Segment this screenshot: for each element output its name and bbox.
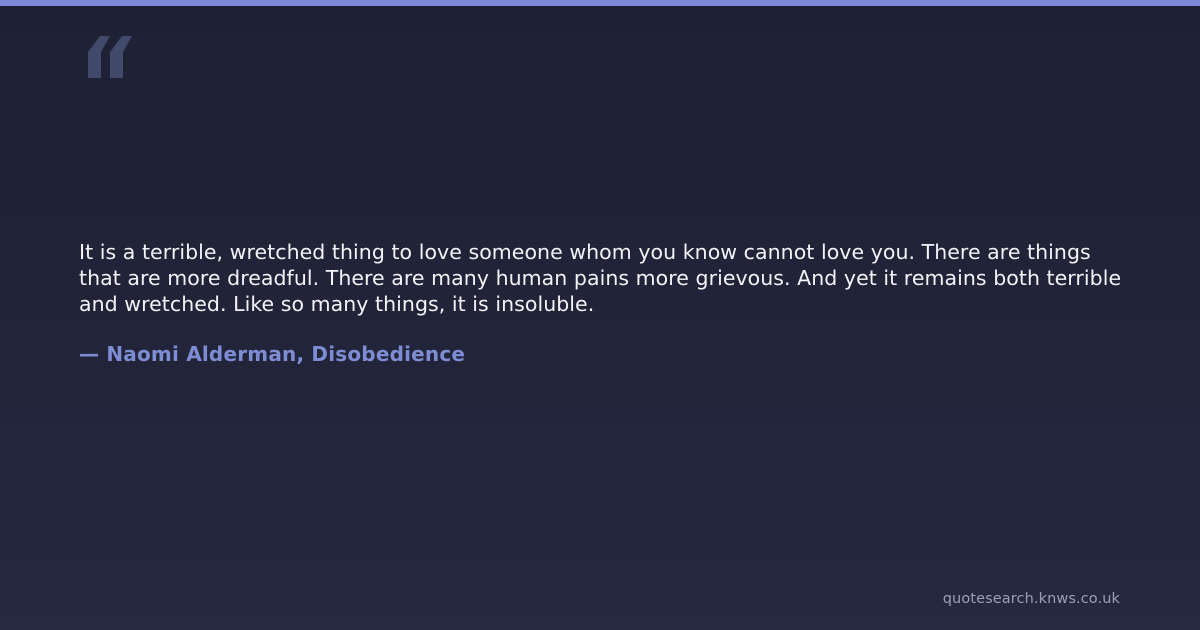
quote-attribution: — Naomi Alderman, Disobedience (79, 340, 465, 368)
source-url: quotesearch.knws.co.uk (943, 590, 1120, 608)
quote-text: It is a terrible, wretched thing to love… (79, 239, 1125, 317)
attribution-text: — Naomi Alderman, Disobedience (79, 342, 465, 366)
left-double-quotation-mark-icon (80, 34, 136, 82)
quote-body: It is a terrible, wretched thing to love… (79, 239, 1125, 317)
top-accent-bar (0, 0, 1200, 6)
quote-card: It is a terrible, wretched thing to love… (0, 0, 1200, 630)
